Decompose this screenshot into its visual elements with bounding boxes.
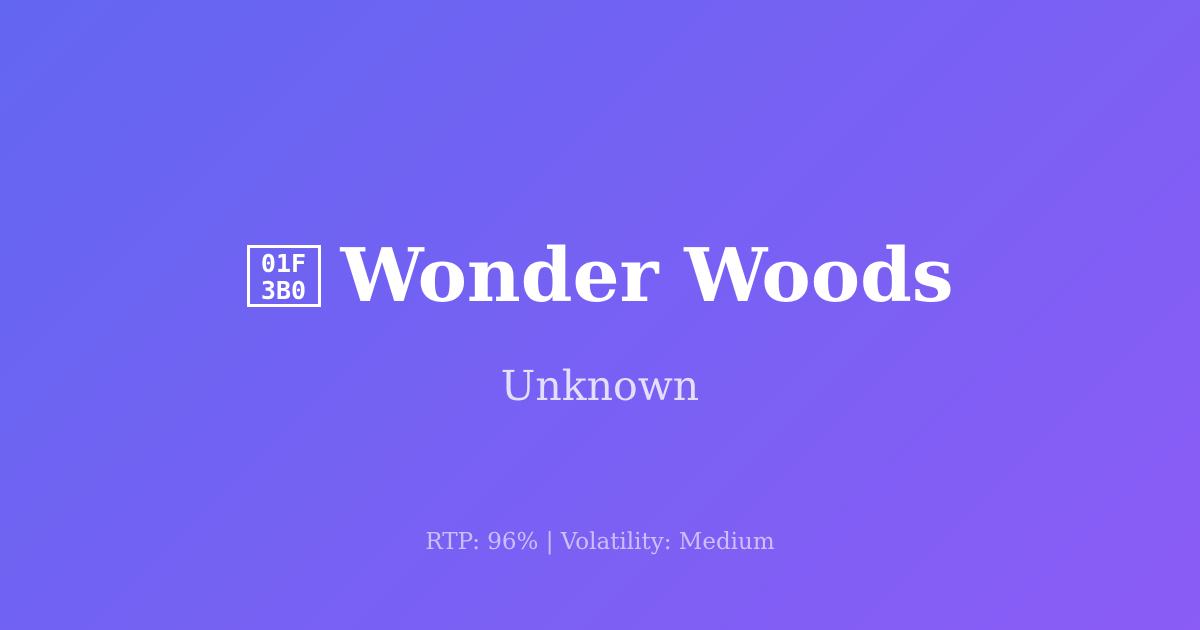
title-row: 01F 3B0 Wonder Woods [0,232,1200,320]
game-provider: Unknown [0,362,1200,410]
slot-machine-emoji-icon: 01F 3B0 [247,245,321,307]
emoji-codepoint-lower: 3B0 [261,277,306,304]
game-preview-card: 01F 3B0 Wonder Woods Unknown RTP: 96% | … [0,0,1200,630]
game-title: Wonder Woods [341,236,954,316]
game-stats: RTP: 96% | Volatility: Medium [0,527,1200,557]
emoji-codepoint-upper: 01F [261,250,306,277]
